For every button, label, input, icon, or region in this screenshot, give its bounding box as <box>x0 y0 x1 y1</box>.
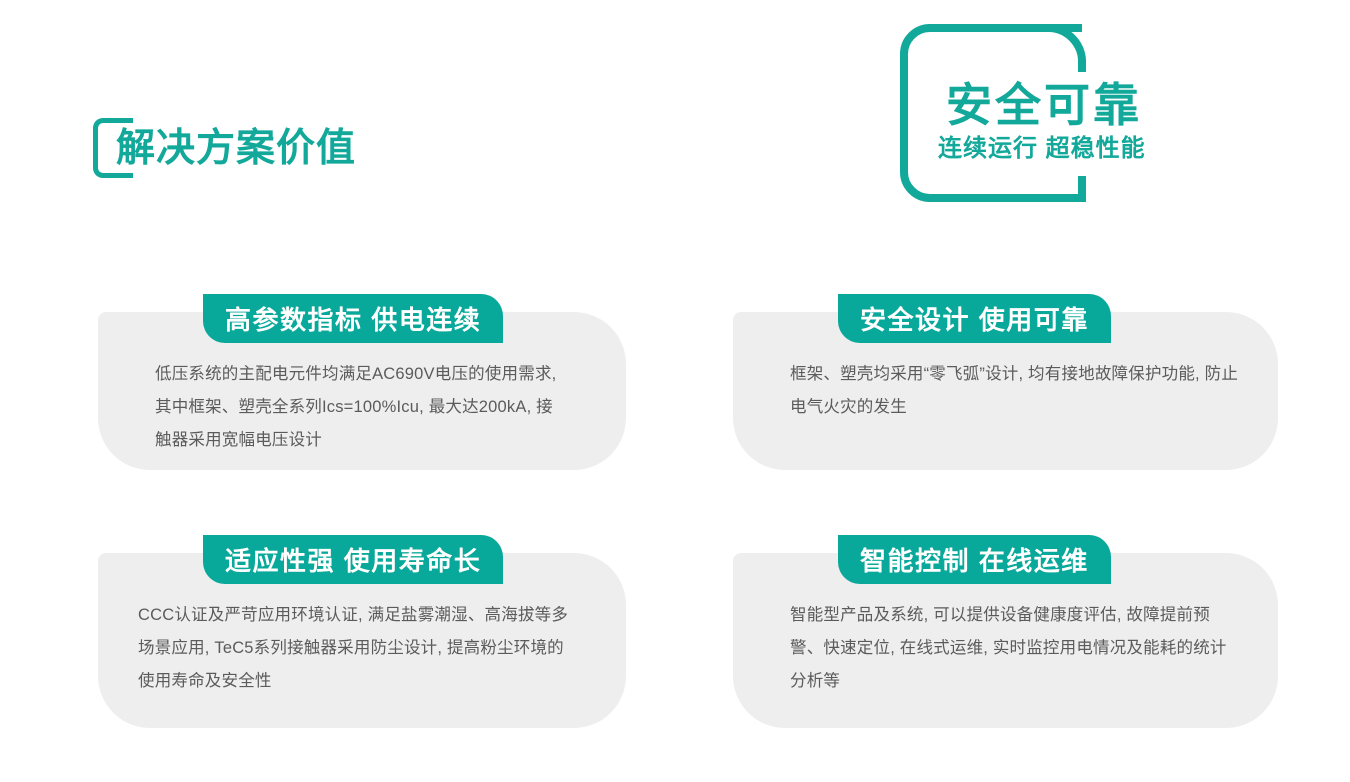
feature-card: 智能控制 在线运维 智能型产品及系统, 可以提供设备健康度评估, 故障提前预警、… <box>733 553 1278 728</box>
right-section-header: 安全可靠 连续运行 超稳性能 <box>900 24 1200 204</box>
right-header-title: 安全可靠 <box>946 76 1206 134</box>
card-body-text: 智能型产品及系统, 可以提供设备健康度评估, 故障提前预警、快速定位, 在线式运… <box>790 599 1240 698</box>
left-section-header: 解决方案价值 <box>93 116 513 186</box>
feature-card: 高参数指标 供电连续 低压系统的主配电元件均满足AC690V电压的使用需求, 其… <box>98 312 626 470</box>
card-body-text: 框架、塑壳均采用“零飞弧”设计, 均有接地故障保护功能, 防止电气火灾的发生 <box>790 358 1240 424</box>
right-header-subtitle: 连续运行 超稳性能 <box>938 132 1218 166</box>
page-title: 解决方案价值 <box>116 116 356 182</box>
feature-card: 安全设计 使用可靠 框架、塑壳均采用“零飞弧”设计, 均有接地故障保护功能, 防… <box>733 312 1278 470</box>
card-badge-title: 高参数指标 供电连续 <box>203 294 503 343</box>
card-badge-title: 安全设计 使用可靠 <box>838 294 1111 343</box>
card-body-text: 低压系统的主配电元件均满足AC690V电压的使用需求, 其中框架、塑壳全系列Ic… <box>155 358 565 457</box>
feature-card: 适应性强 使用寿命长 CCC认证及严苛应用环境认证, 满足盐雾潮湿、高海拔等多场… <box>98 553 626 728</box>
card-body-text: CCC认证及严苛应用环境认证, 满足盐雾潮湿、高海拔等多场景应用, TeC5系列… <box>138 599 578 698</box>
card-badge-title: 智能控制 在线运维 <box>838 535 1111 584</box>
card-badge-title: 适应性强 使用寿命长 <box>203 535 503 584</box>
